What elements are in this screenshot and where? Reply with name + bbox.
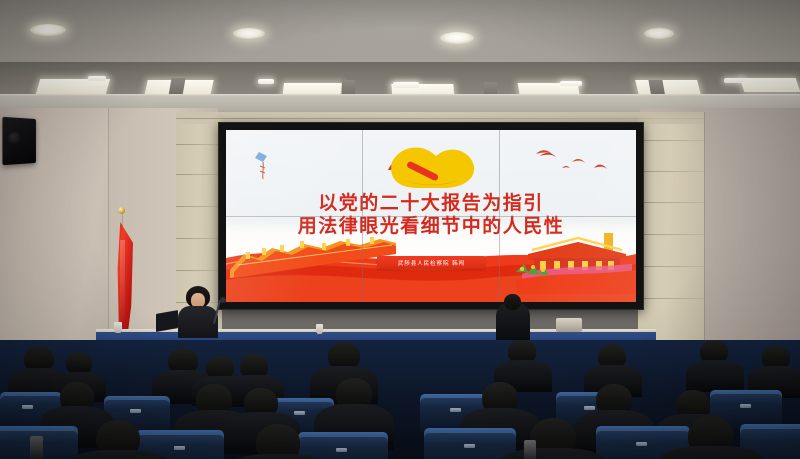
slide-headline-line2: 用法律眼光看细节中的人民性 bbox=[226, 215, 636, 237]
soffit-panel-light bbox=[635, 80, 701, 95]
seat-number-plate bbox=[584, 406, 595, 410]
flag-fold-shadow bbox=[120, 240, 125, 332]
seated-speaker bbox=[176, 286, 220, 338]
tiananmen-gate-icon bbox=[516, 233, 636, 294]
soffit-tube-light bbox=[560, 81, 582, 86]
seat-number-plate bbox=[464, 444, 475, 448]
ceiling-downlight bbox=[233, 28, 265, 39]
ceiling-light-wash bbox=[0, 0, 800, 66]
seat-number-plate bbox=[740, 404, 751, 408]
microphone-head-icon bbox=[220, 297, 226, 303]
wall-seam bbox=[704, 112, 705, 342]
ceiling-downlight bbox=[30, 24, 66, 36]
soffit-tube-light bbox=[258, 79, 274, 84]
speaker-body bbox=[178, 306, 218, 338]
conference-room-photo: 以党的二十大报告为指引 用法律眼光看细节中的人民性 武陟县人民检察院 韩闯 bbox=[0, 0, 800, 459]
seat-number-plate bbox=[130, 409, 141, 413]
ceiling-downlight bbox=[440, 32, 474, 44]
flag-finial-icon bbox=[118, 207, 125, 214]
soffit-tube-light bbox=[724, 78, 744, 83]
soffit-tube-light bbox=[393, 82, 419, 88]
slide-presenter-banner-text: 武陟县人民检察院 韩闯 bbox=[397, 258, 464, 266]
great-wall-icon bbox=[228, 233, 398, 278]
seat-number-plate bbox=[294, 411, 305, 415]
seat-number-plate bbox=[336, 448, 347, 452]
slide-headline-line1: 以党的二十大报告为指引 bbox=[226, 192, 636, 214]
audience-shoulders bbox=[686, 360, 744, 392]
thermos-bottle bbox=[524, 440, 536, 459]
audience-area bbox=[0, 340, 800, 459]
video-wall-seam bbox=[226, 216, 636, 217]
audience-chair[interactable] bbox=[424, 432, 516, 459]
soffit-panel-light bbox=[36, 79, 110, 94]
video-wall-screen: 以党的二十大报告为指引 用法律眼光看细节中的人民性 武陟县人民检察院 韩闯 bbox=[226, 130, 636, 302]
flying-birds-icon bbox=[532, 146, 618, 180]
ceiling-downlight bbox=[644, 28, 674, 39]
speaker-cone bbox=[8, 132, 21, 145]
seat-number-plate bbox=[22, 405, 33, 409]
wall-slat-panel-right bbox=[638, 116, 704, 342]
slide-presenter-banner: 武陟县人民检察院 韩闯 bbox=[377, 256, 485, 269]
paper-cup bbox=[316, 324, 323, 334]
official-head bbox=[504, 294, 521, 310]
soffit-tube-light bbox=[88, 76, 106, 81]
seat-number-plate bbox=[450, 408, 461, 412]
seat-number-plate bbox=[636, 442, 647, 446]
soffit-panel-light bbox=[740, 78, 800, 92]
seat-number-plate bbox=[174, 446, 185, 450]
desk-equipment bbox=[556, 318, 582, 332]
video-wall[interactable]: 以党的二十大报告为指引 用法律眼光看细节中的人民性 武陟县人民检察院 韩闯 bbox=[218, 122, 644, 310]
thermos-bottle bbox=[30, 436, 43, 459]
paper-cup bbox=[114, 322, 122, 333]
kite-icon bbox=[250, 150, 276, 180]
cpc-party-emblem-icon bbox=[378, 140, 484, 192]
